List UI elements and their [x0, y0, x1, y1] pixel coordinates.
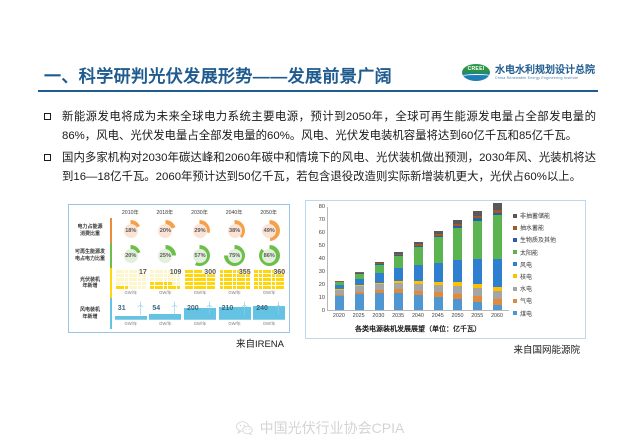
turbine-icon — [137, 301, 144, 315]
irena-grid: 2010年2018年2030年2040年2050年电力占能源消费比重18%20%… — [71, 207, 286, 329]
y-axis-tick: 40 — [319, 256, 325, 262]
unit-label: GW/年 — [263, 321, 276, 327]
bar-segment — [473, 259, 482, 284]
chart-legend: 非抽蓄储能抽水蓄能生物质及其他太阳能风电核电水电气电煤电 — [509, 207, 579, 334]
irena-column-header: 2040年 — [217, 207, 252, 218]
x-axis-tick: 2035 — [390, 313, 406, 319]
irena-column-header: 2050年 — [251, 207, 286, 218]
chart-bar — [355, 272, 364, 310]
wind-farm-icon: 31 — [115, 300, 147, 320]
organization-logo: CREEI 水电水利规划设计总院 China Renewable Energy … — [462, 64, 595, 81]
donut-chart: 25% — [155, 245, 176, 266]
title-divider — [38, 90, 598, 92]
solar-value: 17 — [139, 269, 147, 276]
donut-chart: 57% — [189, 245, 210, 266]
legend-label: 生物质及其他 — [520, 235, 556, 244]
bullet-text: 新能源发电将成为未来全球电力系统主要电源，预计到2050年，全球可再生能源发电量… — [62, 108, 596, 146]
footer-text: 中国光伏行业协会CPIA — [260, 418, 405, 438]
turbine-icon — [206, 301, 213, 315]
x-axis-tick: 2025 — [351, 313, 367, 319]
legend-label: 水电 — [520, 284, 532, 293]
donut-value: 18% — [125, 228, 136, 234]
legend-swatch — [513, 287, 517, 291]
chart-bar — [394, 252, 403, 310]
legend-label: 核电 — [520, 272, 532, 281]
bar-segment — [375, 293, 384, 310]
bullet-list: 新能源发电将成为未来全球电力系统主要电源，预计到2050年，全球可再生能源发电量… — [44, 108, 596, 190]
legend-item: 抽水蓄能 — [513, 223, 579, 232]
irena-cell: 86% — [251, 243, 286, 268]
irena-row-label: 风电装机年新增 — [71, 298, 109, 329]
donut-value: 20% — [160, 228, 171, 234]
legend-item: 非抽蓄储能 — [513, 211, 579, 220]
unit-label: GW/年 — [263, 290, 276, 296]
bar-segment — [434, 263, 443, 282]
bar-segment — [473, 288, 482, 296]
bar-segment — [453, 299, 462, 310]
legend-label: 非抽蓄储能 — [520, 211, 550, 220]
wind-farm-icon: 210 — [219, 300, 251, 320]
legend-label: 太阳能 — [520, 248, 538, 257]
y-axis-tick: 80 — [319, 204, 325, 210]
footer-watermark: 中国光伏行业协会CPIA — [0, 418, 640, 438]
bar-segment — [493, 259, 502, 287]
wechat-icon — [236, 421, 253, 435]
legend-swatch — [513, 274, 517, 278]
donut-chart: 49% — [259, 220, 280, 241]
legend-swatch — [513, 299, 517, 303]
y-axis-tick: 0 — [322, 308, 325, 314]
chart-bar — [473, 211, 482, 310]
solar-value: 360 — [274, 269, 286, 276]
plot-wrap: 01020304050607080 — [312, 207, 509, 311]
irena-cell: 300GW/年 — [182, 268, 217, 298]
chart-bar — [335, 281, 344, 310]
x-axis-tick: 2020 — [331, 313, 347, 319]
legend-item: 煤电 — [513, 309, 579, 318]
figure-right-caption: 来自国网能源院 — [305, 342, 586, 356]
organization-names: 水电水利规划设计总院 China Renewable Energy Engine… — [495, 65, 595, 81]
x-axis-tick: 2060 — [489, 313, 505, 319]
solar-panel-icon: 355 — [219, 270, 251, 289]
chart-bar — [453, 220, 462, 310]
unit-label: GW/年 — [159, 290, 172, 296]
y-axis: 01020304050607080 — [312, 207, 327, 311]
turbine-icon — [171, 301, 178, 315]
y-axis-tick: 50 — [319, 243, 325, 249]
x-axis-tick: 2055 — [469, 313, 485, 319]
irena-table: 2010年2018年2030年2040年2050年电力占能源消费比重18%20%… — [68, 204, 290, 333]
turbine-icon — [241, 301, 248, 315]
donut-chart: 20% — [155, 220, 176, 241]
irena-cell: 18% — [113, 218, 148, 243]
donut-value: 25% — [160, 253, 171, 259]
donut-chart: 75% — [224, 245, 245, 266]
legend-label: 风电 — [520, 260, 532, 269]
chart-bar — [493, 203, 502, 310]
creei-mark-text: CREEI — [462, 66, 490, 72]
bars-container — [327, 207, 509, 311]
irena-cell: 355GW/年 — [217, 268, 252, 298]
donut-chart: 38% — [224, 220, 245, 241]
bullet-item: 国内多家机构对2030年碳达峰和2060年碳中和情境下的风电、光伏装机做出预测，… — [44, 149, 596, 187]
wind-farm-icon: 200 — [184, 300, 216, 320]
donut-chart: 18% — [120, 220, 141, 241]
irena-row-label: 可再生能源发电占电力比重 — [71, 243, 109, 268]
irena-cell: 49% — [251, 218, 286, 243]
donut-value: 20% — [125, 253, 136, 259]
legend-item: 风电 — [513, 260, 579, 269]
wind-farm-icon: 54 — [149, 300, 181, 320]
bar-segment — [493, 291, 502, 299]
wind-value: 240 — [256, 305, 268, 312]
solar-value: 355 — [239, 269, 251, 276]
figure-capacity-outlook: 01020304050607080 2020202520302035204020… — [305, 200, 586, 356]
unit-label: GW/年 — [194, 290, 207, 296]
chart-bar — [414, 242, 423, 310]
bar-segment — [473, 221, 482, 259]
bar-segment — [394, 256, 403, 268]
square-bullet-icon — [44, 113, 51, 120]
chart-bar — [375, 262, 384, 310]
creei-logo-icon: CREEI — [462, 64, 490, 81]
legend-item: 太阳能 — [513, 248, 579, 257]
organization-name-cn: 水电水利规划设计总院 — [495, 65, 595, 77]
unit-label: GW/年 — [159, 321, 172, 327]
irena-cell: 17GW/年 — [113, 268, 148, 298]
x-axis: 202020252030203520402045205020552060 — [327, 311, 509, 319]
donut-chart: 86% — [259, 245, 280, 266]
irena-cell: 54GW/年 — [148, 298, 183, 329]
x-axis-tick: 2045 — [430, 313, 446, 319]
bullet-text: 国内多家机构对2030年碳达峰和2060年碳中和情境下的风电、光伏装机做出预测，… — [62, 149, 596, 187]
donut-value: 75% — [229, 253, 240, 259]
irena-cell: 31GW/年 — [113, 298, 148, 329]
chart-plot-area: 01020304050607080 2020202520302035204020… — [312, 207, 509, 334]
bar-segment — [375, 273, 384, 282]
legend-swatch — [513, 226, 517, 230]
y-axis-tick: 10 — [319, 295, 325, 301]
bar-segment — [434, 237, 443, 262]
legend-swatch — [513, 214, 517, 218]
irena-cell: 20% — [148, 218, 183, 243]
bar-segment — [493, 305, 502, 310]
wind-value: 200 — [187, 305, 199, 312]
figures-area: 2010年2018年2030年2040年2050年电力占能源消费比重18%20%… — [0, 196, 640, 376]
irena-cell: 210GW/年 — [217, 298, 252, 329]
irena-cell: 25% — [148, 243, 183, 268]
solar-panel-icon: 17 — [115, 270, 147, 289]
solar-value: 109 — [170, 269, 182, 276]
figure-irena: 2010年2018年2030年2040年2050年电力占能源消费比重18%20%… — [68, 204, 290, 350]
legend-item: 水电 — [513, 284, 579, 293]
bar-segment — [473, 302, 482, 310]
irena-row-label: 光伏装机年新增 — [71, 268, 109, 298]
donut-value: 38% — [229, 228, 240, 234]
bar-segment — [453, 260, 462, 282]
donut-chart: 20% — [120, 245, 141, 266]
bar-segment — [414, 284, 423, 291]
legend-swatch — [513, 311, 517, 315]
legend-item: 气电 — [513, 296, 579, 305]
irena-cell: 200GW/年 — [182, 298, 217, 329]
solar-panel-icon: 360 — [253, 270, 285, 289]
bar-segment — [375, 265, 384, 274]
legend-swatch — [513, 250, 517, 254]
wind-value: 31 — [118, 305, 126, 312]
irena-column-header: 2018年 — [148, 207, 183, 218]
irena-column-header: 2010年 — [113, 207, 148, 218]
solar-value: 300 — [204, 269, 216, 276]
figure-left-caption: 来自IRENA — [68, 336, 290, 350]
irena-column-header: 2030年 — [182, 207, 217, 218]
irena-cell: 360GW/年 — [251, 268, 286, 298]
slide-canvas: 一、科学研判光伏发展形势——发展前景广阔 CREEI 水电水利规划设计总院 Ch… — [0, 0, 640, 448]
y-axis-tick: 30 — [319, 269, 325, 275]
bar-segment — [453, 228, 462, 260]
irena-cell: 38% — [217, 218, 252, 243]
unit-label: GW/年 — [228, 290, 241, 296]
unit-label: GW/年 — [125, 290, 138, 296]
bar-segment — [434, 297, 443, 310]
wind-value: 54 — [152, 305, 160, 312]
legend-swatch — [513, 262, 517, 266]
bar-segment — [335, 296, 344, 310]
bar-segment — [414, 295, 423, 310]
solar-panel-icon: 109 — [149, 270, 181, 289]
irena-cell: 75% — [217, 243, 252, 268]
donut-value: 57% — [194, 253, 205, 259]
legend-item: 生物质及其他 — [513, 235, 579, 244]
bar-segment — [453, 286, 462, 294]
irena-cell: 109GW/年 — [148, 268, 183, 298]
irena-cell: 57% — [182, 243, 217, 268]
chart-bar — [434, 231, 443, 310]
y-axis-tick: 20 — [319, 282, 325, 288]
bar-segment — [355, 294, 364, 310]
stacked-bar-chart: 01020304050607080 2020202520302035204020… — [305, 200, 586, 339]
unit-label: GW/年 — [228, 321, 241, 327]
turbine-icon — [275, 301, 282, 315]
x-axis-tick: 2030 — [370, 313, 386, 319]
irena-cell: 20% — [113, 243, 148, 268]
bar-segment — [414, 247, 423, 265]
square-bullet-icon — [44, 154, 51, 161]
chart-title: 各类电源装机发展展望（单位：亿千瓦） — [327, 324, 509, 334]
bar-segment — [493, 215, 502, 259]
bar-segment — [493, 203, 502, 210]
legend-swatch — [513, 238, 517, 242]
bar-segment — [414, 265, 423, 281]
unit-label: GW/年 — [194, 321, 207, 327]
wind-value: 210 — [222, 305, 234, 312]
page-title: 一、科学研判光伏发展形势——发展前景广阔 — [44, 62, 392, 87]
bar-segment — [394, 293, 403, 310]
solar-panel-icon: 300 — [184, 270, 216, 289]
donut-value: 86% — [264, 253, 275, 259]
donut-chart: 29% — [189, 220, 210, 241]
irena-row-label: 电力占能源消费比重 — [71, 218, 109, 243]
irena-corner-cell — [71, 207, 109, 218]
legend-label: 煤电 — [520, 309, 532, 318]
irena-cell: 29% — [182, 218, 217, 243]
y-axis-tick: 60 — [319, 230, 325, 236]
bar-segment — [434, 285, 443, 292]
organization-name-en: China Renewable Energy Engineering Insti… — [495, 76, 595, 80]
bar-segment — [394, 268, 403, 281]
irena-cell: 240GW/年 — [251, 298, 286, 329]
legend-label: 气电 — [520, 296, 532, 305]
x-axis-tick: 2050 — [449, 313, 465, 319]
wind-farm-icon: 240 — [253, 300, 285, 320]
wave-icon — [462, 74, 490, 80]
donut-value: 29% — [194, 228, 205, 234]
donut-value: 49% — [264, 228, 275, 234]
bullet-item: 新能源发电将成为未来全球电力系统主要电源，预计到2050年，全球可再生能源发电量… — [44, 108, 596, 146]
legend-label: 抽水蓄能 — [520, 223, 544, 232]
unit-label: GW/年 — [125, 321, 138, 327]
x-axis-tick: 2040 — [410, 313, 426, 319]
legend-item: 核电 — [513, 272, 579, 281]
y-axis-tick: 70 — [319, 217, 325, 223]
